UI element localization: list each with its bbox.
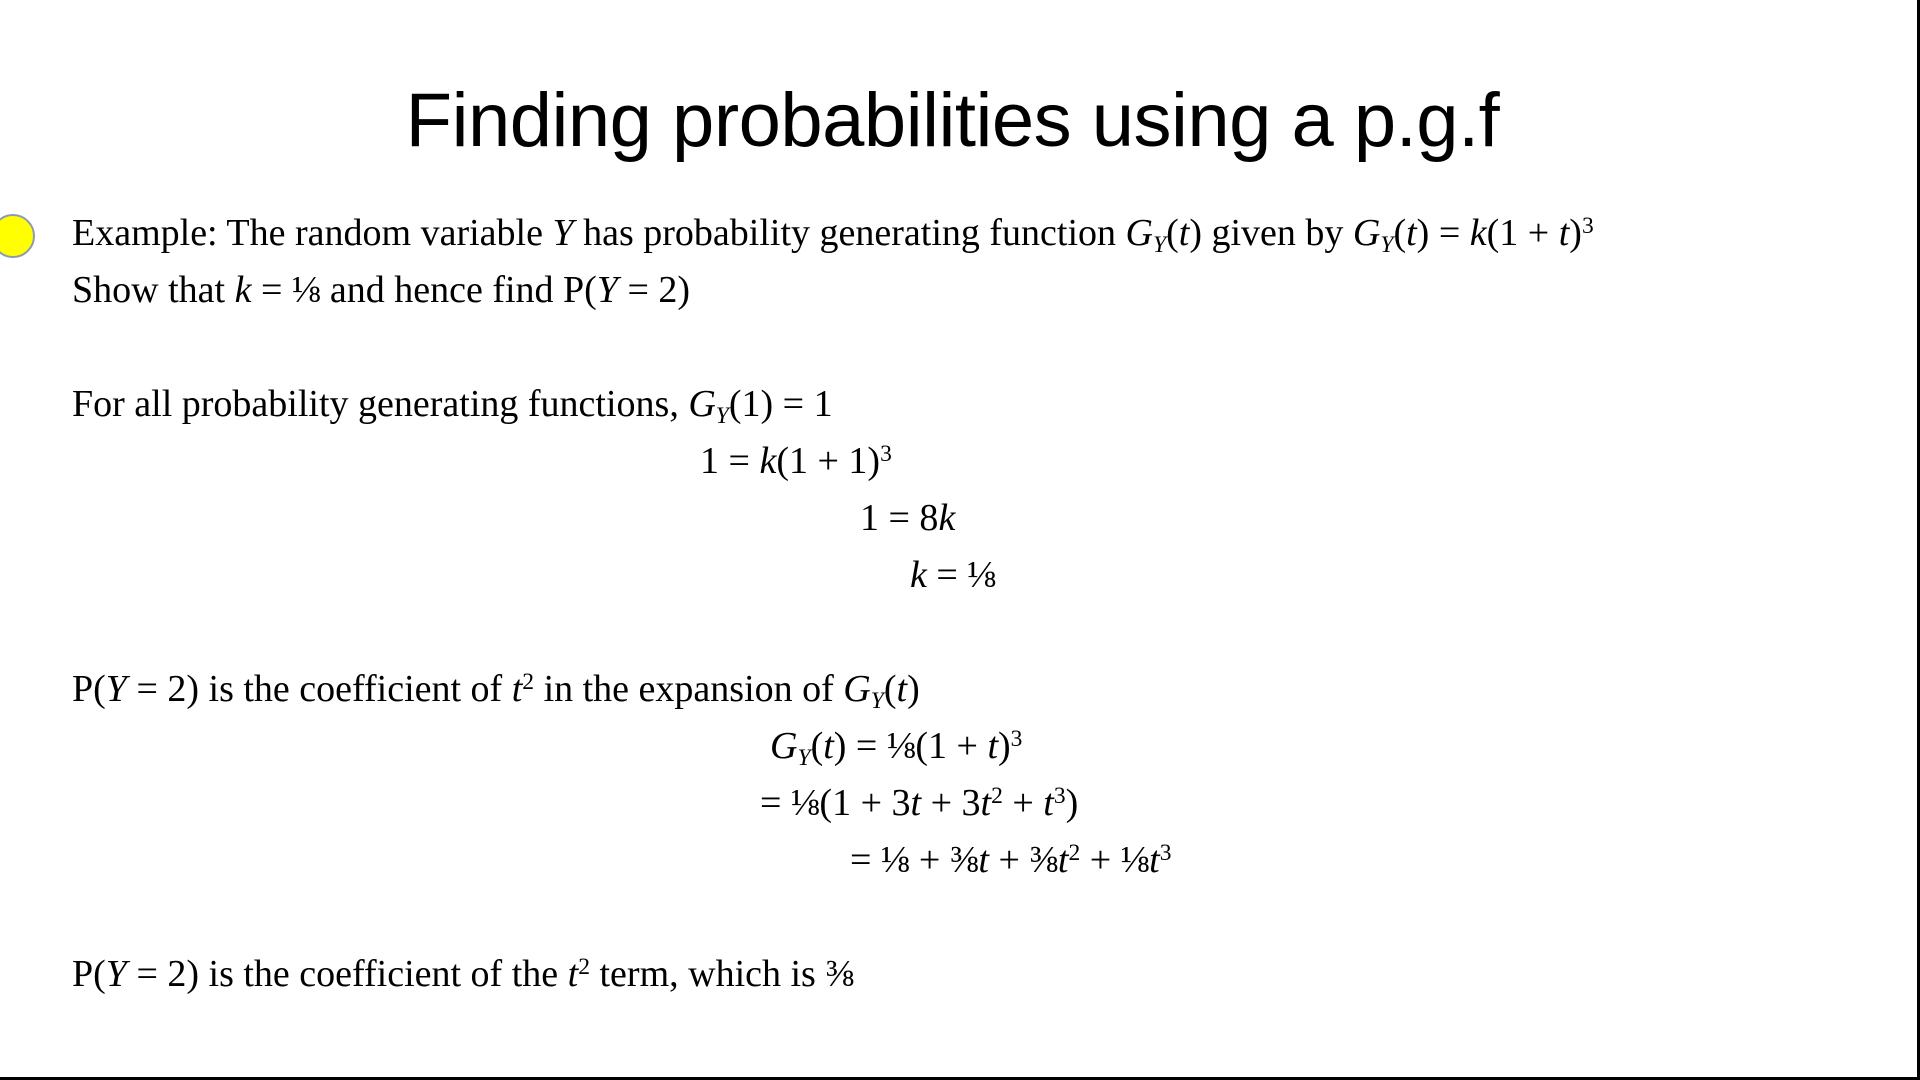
variable-Y: Y	[552, 212, 573, 254]
variable-t: t	[1058, 839, 1069, 881]
exponent-2: 2	[1068, 840, 1080, 866]
exponent-3: 3	[1160, 840, 1172, 866]
variable-t: t	[987, 725, 998, 767]
text-run: ) =	[1417, 212, 1470, 254]
text-run: + ⅛	[1080, 839, 1149, 881]
text-run: Example: The random variable	[72, 212, 552, 254]
variable-t: t	[1406, 212, 1417, 254]
text-run: (	[811, 725, 824, 767]
example-line-2: Show that k = ⅛ and hence find P(Y = 2)	[72, 262, 1885, 319]
coefficient-paragraph: P(Y = 2) is the coefficient of t2 in the…	[0, 661, 1905, 718]
pgf-subscript-Y: Y	[797, 745, 810, 771]
forall-paragraph: For all probability generating functions…	[0, 376, 1905, 433]
answer-line: P(Y = 2) is the coefficient of the t2 te…	[72, 946, 1885, 1003]
text-run: P(	[72, 668, 106, 710]
pgf-subscript-Y: Y	[1153, 232, 1166, 258]
equation-2: 1 = 8k	[0, 490, 1905, 547]
exponent-2: 2	[522, 669, 534, 695]
exponent-2: 2	[578, 954, 590, 980]
variable-t: t	[1149, 839, 1160, 881]
pgf-symbol-G: G	[1353, 212, 1380, 254]
exponent-3: 3	[1582, 213, 1594, 239]
text-run: (	[1166, 212, 1179, 254]
variable-t: t	[568, 953, 579, 995]
pgf-subscript-Y: Y	[1380, 232, 1393, 258]
pgf-subscript-Y: Y	[716, 403, 729, 429]
text-run: = 2) is the coefficient of the	[127, 953, 568, 995]
variable-t: t	[1179, 212, 1190, 254]
coefficient-line: P(Y = 2) is the coefficient of t2 in the…	[72, 661, 1885, 718]
variable-t: t	[823, 725, 834, 767]
exponent-3: 3	[1011, 726, 1023, 752]
text-run: +	[1003, 782, 1043, 824]
text-run: )	[1569, 212, 1582, 254]
constant-k: k	[910, 554, 927, 596]
slide: Finding probabilities using a p.g.f Exam…	[0, 0, 1920, 1080]
answer-paragraph: P(Y = 2) is the coefficient of the t2 te…	[0, 946, 1905, 1003]
text-run: = ⅛ + ⅜	[850, 839, 978, 881]
spacer	[0, 889, 1905, 946]
text-run: (	[1393, 212, 1406, 254]
text-run: (	[884, 668, 897, 710]
slide-body: Example: The random variable Y has proba…	[0, 205, 1905, 1003]
example-line-1: Example: The random variable Y has proba…	[72, 205, 1885, 262]
expansion-3: = ⅛ + ⅜t + ⅜t2 + ⅛t3	[0, 832, 1905, 889]
variable-t: t	[512, 668, 523, 710]
text-run: = ⅛	[927, 554, 996, 596]
text-run: ) given by	[1189, 212, 1353, 254]
example-paragraph: Example: The random variable Y has proba…	[0, 205, 1905, 319]
constant-k: k	[938, 497, 955, 539]
text-run: = ⅛ and hence find P(	[251, 269, 596, 311]
text-run: term, which is ⅜	[590, 953, 854, 995]
exponent-2: 2	[991, 783, 1003, 809]
text-run: )	[998, 725, 1011, 767]
text-run: in the expansion of	[534, 668, 843, 710]
equation-3: k = ⅛	[0, 547, 1905, 604]
text-run: 1 = 8	[860, 497, 938, 539]
pgf-symbol-G: G	[1126, 212, 1153, 254]
text-run: + ⅜	[989, 839, 1058, 881]
text-run: 1 =	[700, 440, 759, 482]
constant-k: k	[235, 269, 252, 311]
bullet-circle-icon	[0, 214, 35, 258]
text-run: ) = ⅛(1 +	[834, 725, 988, 767]
text-run: has probability generating function	[574, 212, 1126, 254]
expansion-2: = ⅛(1 + 3t + 3t2 + t3)	[0, 775, 1905, 832]
variable-t: t	[981, 782, 992, 824]
variable-t: t	[978, 839, 989, 881]
constant-k: k	[1470, 212, 1487, 254]
pgf-symbol-G: G	[688, 383, 715, 425]
text-run: Show that	[72, 269, 235, 311]
text-run: + 3	[921, 782, 980, 824]
text-run: For all probability generating functions…	[72, 383, 688, 425]
text-run: )	[907, 668, 920, 710]
exponent-3: 3	[880, 441, 892, 467]
text-run: )	[1066, 782, 1079, 824]
variable-t: t	[911, 782, 922, 824]
text-run: = ⅛(1 + 3	[760, 782, 911, 824]
spacer	[0, 604, 1905, 661]
text-run: P(	[72, 953, 106, 995]
variable-Y: Y	[106, 668, 127, 710]
spacer	[0, 319, 1905, 376]
forall-line: For all probability generating functions…	[72, 376, 1885, 433]
variable-Y: Y	[106, 953, 127, 995]
variable-t: t	[1043, 782, 1054, 824]
variable-t: t	[1559, 212, 1570, 254]
constant-k: k	[759, 440, 776, 482]
pgf-symbol-G: G	[843, 668, 870, 710]
text-run: (1) = 1	[729, 383, 833, 425]
page-title: Finding probabilities using a p.g.f	[0, 78, 1905, 164]
pgf-subscript-Y: Y	[871, 688, 884, 714]
pgf-symbol-G: G	[770, 725, 797, 767]
text-run: (1 +	[1487, 212, 1559, 254]
variable-Y: Y	[597, 269, 618, 311]
text-run: (1 + 1)	[776, 440, 880, 482]
equation-1: 1 = k(1 + 1)3	[0, 433, 1905, 490]
exponent-3: 3	[1054, 783, 1066, 809]
text-run: = 2) is the coefficient of	[127, 668, 512, 710]
variable-t: t	[897, 668, 908, 710]
expansion-1: GY(t) = ⅛(1 + t)3	[0, 718, 1905, 775]
text-run: = 2)	[618, 269, 690, 311]
